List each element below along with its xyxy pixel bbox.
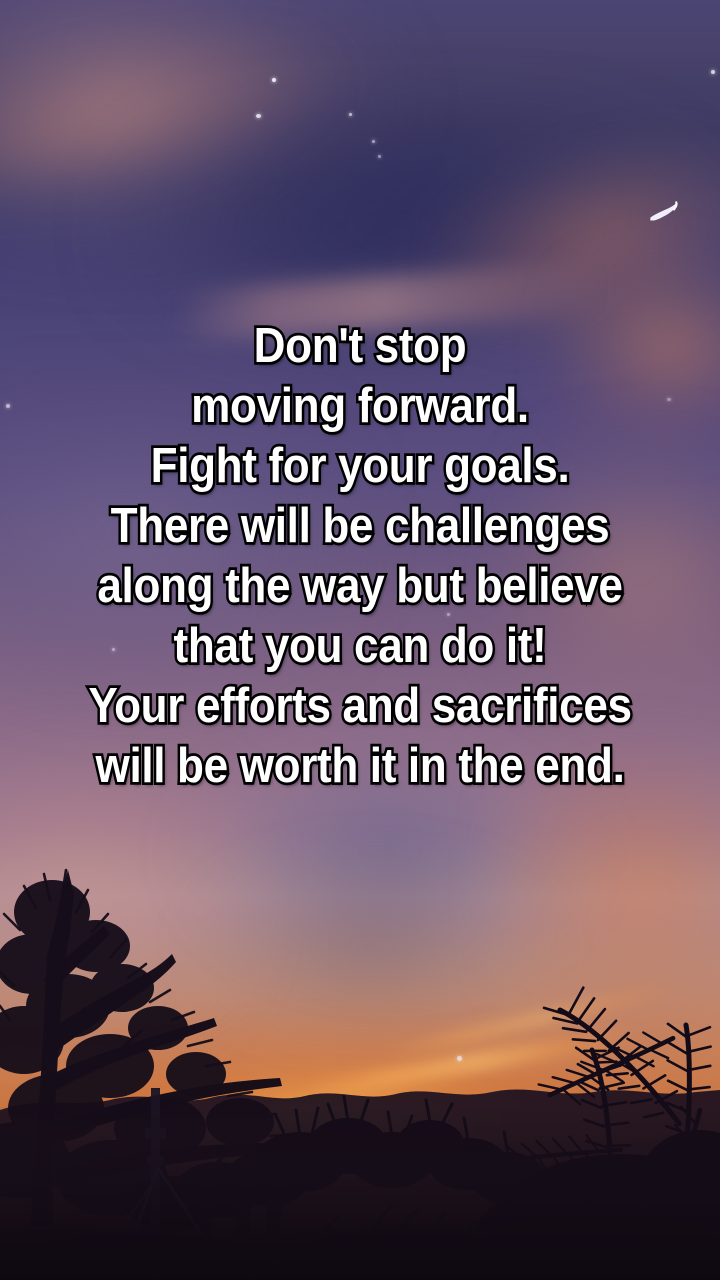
wallpaper-canvas: Don't stop moving forward. Fight for you… — [0, 0, 720, 1280]
star — [256, 114, 261, 118]
star — [372, 140, 375, 143]
quote-line-7: Your efforts and sacrifices — [36, 676, 684, 736]
star — [349, 113, 352, 116]
quote-line-4: There will be challenges — [36, 496, 684, 556]
foreground-dark-gradient — [0, 1105, 720, 1280]
quote-line-5: along the way but believe — [36, 556, 684, 616]
crescent-moon-icon — [648, 200, 684, 226]
star — [272, 78, 276, 82]
quote-line-8: will be worth it in the end. — [36, 736, 684, 796]
quote-line-2: moving forward. — [36, 376, 684, 436]
star — [6, 404, 10, 408]
star — [457, 1056, 462, 1061]
quote-line-6: that you can do it! — [36, 616, 684, 676]
quote-text: Don't stop moving forward. Fight for you… — [36, 316, 684, 796]
star — [711, 70, 715, 74]
quote-line-1: Don't stop — [36, 316, 684, 376]
quote-line-3: Fight for your goals. — [36, 436, 684, 496]
star — [378, 155, 381, 158]
